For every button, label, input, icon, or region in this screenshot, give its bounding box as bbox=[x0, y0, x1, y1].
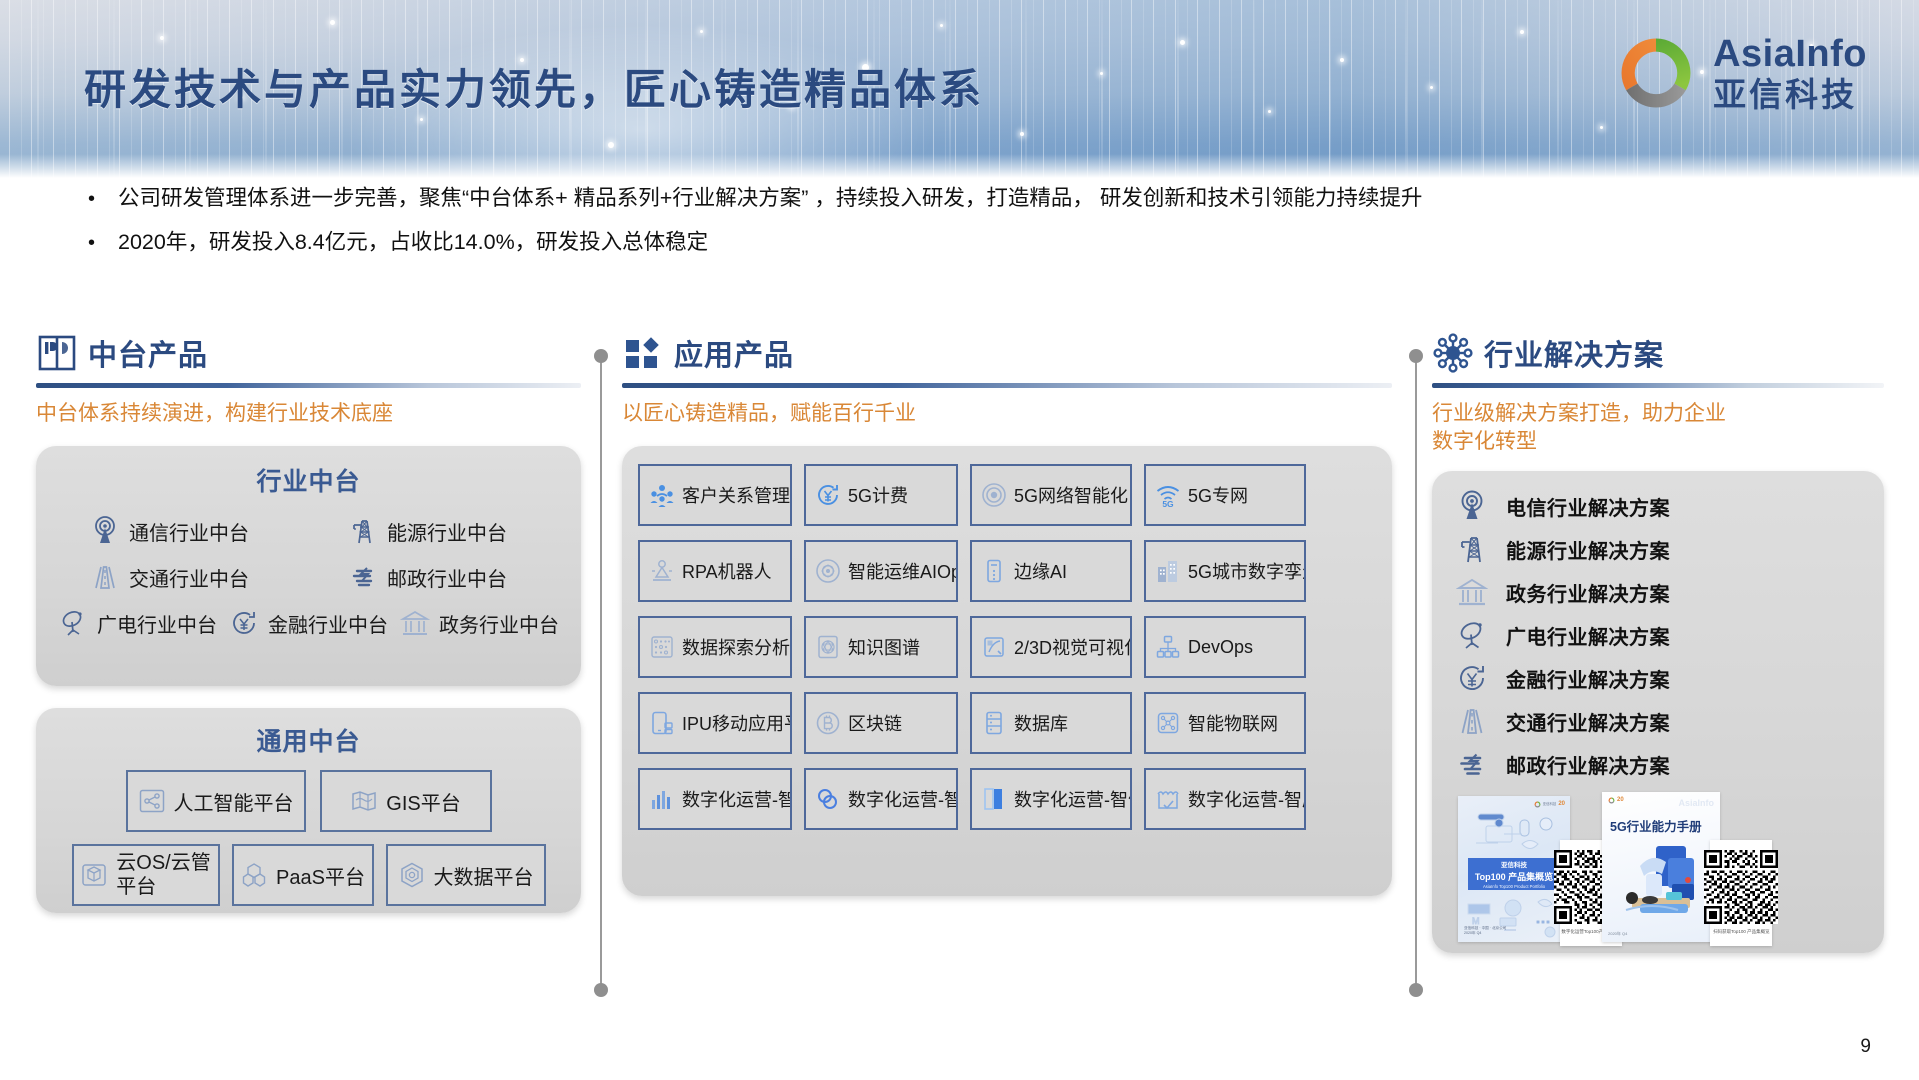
book-icon bbox=[981, 786, 1007, 812]
industry-item-label: 政务行业中台 bbox=[439, 609, 559, 638]
billing-yuan-icon bbox=[815, 482, 841, 508]
bullet-list: • 公司研发管理体系进一步完善，聚焦“中台体系+ 精品系列+行业解决方案” ，持… bbox=[88, 176, 1878, 264]
column-title: 应用产品 bbox=[674, 332, 794, 374]
column-header-applications: 应用产品 bbox=[622, 330, 1392, 376]
app-item-5g-billing[interactable]: 5G计费 bbox=[804, 464, 958, 526]
brochure-title: Top100 产品集概览 bbox=[1475, 870, 1553, 883]
edge-device-icon bbox=[981, 558, 1007, 584]
brochure-cover-art bbox=[1610, 840, 1714, 922]
solution-item-label: 邮政行业解决方案 bbox=[1506, 750, 1670, 779]
app-item-5g-digital-twin[interactable]: 5G城市数字孪生 bbox=[1144, 540, 1306, 602]
column-solutions: 行业解决方案 行业级解决方案打造，助力企业 数字化转型 电信行业解决方案 bbox=[1432, 330, 1884, 953]
yuan-circle-icon bbox=[229, 608, 259, 638]
aiops-gear-icon bbox=[815, 558, 841, 584]
platform-cloudos[interactable]: 云OS/云管 平台 bbox=[72, 844, 220, 906]
platform-label: 人工智能平台 bbox=[174, 787, 294, 816]
app-item-label: 5G城市数字孪生 bbox=[1188, 558, 1304, 584]
industry-item-broadcast[interactable]: 广电行业中台 bbox=[58, 608, 217, 638]
column-rule bbox=[622, 383, 1392, 388]
app-item-label: 智能物联网 bbox=[1188, 710, 1278, 736]
bullet-item: • 公司研发管理体系进一步完善，聚焦“中台体系+ 精品系列+行业解决方案” ，持… bbox=[88, 176, 1878, 220]
solution-item-label: 政务行业解决方案 bbox=[1506, 578, 1670, 607]
svg-text:5G: 5G bbox=[1162, 499, 1174, 508]
industry-item-telecom[interactable]: 通信行业中台 bbox=[90, 516, 290, 546]
mobile-phone-icon bbox=[649, 710, 675, 736]
3d-visual-icon bbox=[981, 634, 1007, 660]
anniversary-badge: 20 bbox=[1617, 797, 1624, 803]
column-subtitle: 行业级解决方案打造，助力企业 数字化转型 bbox=[1432, 400, 1884, 457]
industry-middleware-grid: 通信行业中台 能源行业中台 bbox=[50, 516, 567, 638]
app-item-label: 数字化运营-智营 bbox=[682, 786, 790, 812]
industry-item-label: 广电行业中台 bbox=[97, 609, 217, 638]
column-title: 中台产品 bbox=[88, 332, 208, 374]
logo-name-cn: 亚信科技 bbox=[1713, 78, 1867, 111]
app-item-blockchain[interactable]: 区块链 bbox=[804, 692, 958, 754]
column-title: 行业解决方案 bbox=[1484, 332, 1664, 374]
bullet-item: • 2020年，研发投入8.4亿元，占收比14.0%，研发投入总体稳定 bbox=[88, 220, 1878, 264]
page-title: 研发技术与产品实力领先，匠心铸造精品体系 bbox=[84, 56, 984, 117]
road-icon bbox=[90, 562, 120, 592]
industry-item-government[interactable]: 政务行业中台 bbox=[400, 608, 559, 638]
wifi-5g-icon: 5G bbox=[1155, 482, 1181, 508]
column-rule bbox=[36, 383, 581, 388]
app-item-iot[interactable]: 智能物联网 bbox=[1144, 692, 1306, 754]
card-industry-solutions: 电信行业解决方案 能源行业解决方案 bbox=[1432, 471, 1884, 953]
app-item-digital-ops-zhixiang[interactable]: 数字化运营-智享 bbox=[804, 768, 958, 830]
app-item-label: 5G专网 bbox=[1188, 482, 1248, 508]
asiainfo-logo: AsiaInfo 亚信科技 bbox=[1615, 32, 1867, 114]
qr-caption: 扫码获取Top100 产品集概览 bbox=[1713, 929, 1770, 935]
solution-item-label: 金融行业解决方案 bbox=[1506, 664, 1670, 693]
app-item-3d-visualization[interactable]: 2/3D视觉可视化 bbox=[970, 616, 1132, 678]
solution-item-label: 能源行业解决方案 bbox=[1506, 535, 1670, 564]
app-squares-icon bbox=[622, 332, 664, 374]
app-item-digital-ops-zhixin[interactable]: 数字化运营-智信 bbox=[970, 768, 1132, 830]
card-application-products: 客户关系管理 5G计费 bbox=[622, 446, 1392, 896]
solution-item-finance[interactable]: 金融行业解决方案 bbox=[1456, 657, 1874, 700]
column-rule bbox=[1432, 383, 1884, 388]
iot-chip-icon bbox=[1155, 710, 1181, 736]
rpa-robot-icon bbox=[649, 558, 675, 584]
solution-item-transport[interactable]: 交通行业解决方案 bbox=[1456, 700, 1874, 743]
app-item-devops[interactable]: DevOps bbox=[1144, 616, 1306, 678]
yuan-circle-icon bbox=[1456, 662, 1488, 694]
platform-ai[interactable]: 人工智能平台 bbox=[126, 770, 306, 832]
app-item-data-exploration[interactable]: 数据探索分析 bbox=[638, 616, 792, 678]
brochure-subtitle: AsiaInfo Top100 Product Portfolio bbox=[1483, 884, 1545, 889]
app-item-label: 5G计费 bbox=[848, 482, 908, 508]
ai-nodes-icon bbox=[138, 787, 166, 815]
solution-item-label: 交通行业解决方案 bbox=[1506, 707, 1670, 736]
card-general-middleware: 通用中台 人工智能平台 bbox=[36, 708, 581, 913]
asiainfo-ring-logo-icon bbox=[1615, 32, 1697, 114]
platform-label: GIS平台 bbox=[386, 787, 460, 816]
column-middleware: 中台产品 中台体系持续演进，构建行业技术底座 行业中台 通信行业中台 bbox=[36, 330, 581, 913]
brochure-footer: 亚信科技 · 中国 · 北京公司 2020年 Q4 bbox=[1464, 926, 1506, 937]
column-divider-2 bbox=[1415, 358, 1417, 988]
solution-item-label: 电信行业解决方案 bbox=[1506, 492, 1670, 521]
app-item-label: RPA机器人 bbox=[682, 558, 772, 584]
city-buildings-icon bbox=[1155, 558, 1181, 584]
brochure-title: 5G行业能力手册 bbox=[1610, 816, 1702, 835]
app-item-label: 数据库 bbox=[1014, 710, 1068, 736]
app-item-5g-network-ai[interactable]: 5G网络智能化 bbox=[970, 464, 1132, 526]
qr-code-image bbox=[1704, 850, 1778, 924]
power-tower-icon bbox=[348, 516, 378, 546]
app-item-edge-ai[interactable]: 边缘AI bbox=[970, 540, 1132, 602]
power-tower-icon bbox=[1456, 533, 1488, 565]
app-item-label: 区块链 bbox=[848, 710, 902, 736]
postal-icon bbox=[1456, 748, 1488, 780]
logo-name-en: AsiaInfo bbox=[1713, 35, 1867, 73]
brochure-brand-name: 亚信科技 bbox=[1501, 859, 1527, 869]
column-applications: 应用产品 以匠心铸造精品，赋能百行千业 客户关系管理 bbox=[622, 330, 1392, 896]
app-item-ipu-mobile[interactable]: IPU移动应用平台 bbox=[638, 692, 792, 754]
satellite-dish-icon bbox=[1456, 619, 1488, 651]
general-middleware-row-1: 人工智能平台 GIS平台 bbox=[48, 770, 569, 832]
app-item-aiops[interactable]: 智能运维AIOps bbox=[804, 540, 958, 602]
app-item-label: 2/3D视觉可视化 bbox=[1014, 634, 1130, 660]
industry-row: 交通行业中台 邮政行业中台 bbox=[50, 562, 567, 592]
map-icon bbox=[350, 787, 378, 815]
antenna-icon bbox=[90, 516, 120, 546]
bullet-text: 公司研发管理体系进一步完善，聚焦“中台体系+ 精品系列+行业解决方案” ，持续投… bbox=[118, 176, 1422, 220]
government-bank-icon bbox=[1456, 576, 1488, 608]
network-target-icon bbox=[981, 482, 1007, 508]
government-bank-icon bbox=[400, 608, 430, 638]
app-item-database[interactable]: 数据库 bbox=[970, 692, 1132, 754]
qr-code-5g-handbook[interactable]: 扫码获取Top100 产品集概览 bbox=[1710, 840, 1772, 946]
data-explore-icon bbox=[649, 634, 675, 660]
solution-item-energy[interactable]: 能源行业解决方案 bbox=[1456, 528, 1874, 571]
industry-item-energy[interactable]: 能源行业中台 bbox=[348, 516, 507, 546]
column-header-solutions: 行业解决方案 bbox=[1432, 330, 1884, 376]
satellite-dish-icon bbox=[58, 608, 88, 638]
solution-item-government[interactable]: 政务行业解决方案 bbox=[1456, 571, 1874, 614]
brochure-brand-mark: 20 bbox=[1608, 797, 1624, 804]
platform-gis[interactable]: GIS平台 bbox=[320, 770, 492, 832]
industry-item-label: 能源行业中台 bbox=[387, 517, 507, 546]
app-item-label: 数字化运营-智店 bbox=[1188, 786, 1304, 812]
asiainfo-ring-logo-icon bbox=[1608, 797, 1615, 804]
bullet-text: 2020年，研发投入8.4亿元，占收比14.0%，研发投入总体稳定 bbox=[118, 220, 708, 264]
database-icon bbox=[981, 710, 1007, 736]
knowledge-graph-icon bbox=[815, 634, 841, 660]
devops-tree-icon bbox=[1155, 634, 1181, 660]
solution-item-telecom[interactable]: 电信行业解决方案 bbox=[1456, 485, 1874, 528]
app-item-crm[interactable]: 客户关系管理 bbox=[638, 464, 792, 526]
app-item-label: 数据探索分析 bbox=[682, 634, 790, 660]
platform-label: 云OS/云管 平台 bbox=[116, 851, 210, 900]
app-item-rpa[interactable]: RPA机器人 bbox=[638, 540, 792, 602]
platform-label: 大数据平台 bbox=[434, 861, 534, 890]
platform-label: PaaS平台 bbox=[276, 861, 365, 890]
app-item-5g-private-network[interactable]: 5G 5G专网 bbox=[1144, 464, 1306, 526]
app-item-label: 5G网络智能化 bbox=[1014, 482, 1128, 508]
solution-item-broadcast[interactable]: 广电行业解决方案 bbox=[1456, 614, 1874, 657]
app-item-label: 边缘AI bbox=[1014, 558, 1067, 584]
road-icon bbox=[1456, 705, 1488, 737]
paas-cubes-icon bbox=[240, 861, 268, 889]
page-number: 9 bbox=[1860, 1036, 1871, 1058]
industry-item-transport[interactable]: 交通行业中台 bbox=[90, 562, 290, 592]
app-item-label: 智能运维AIOps bbox=[848, 558, 956, 584]
antenna-icon bbox=[1456, 490, 1488, 522]
header-banner: 研发技术与产品实力领先，匠心铸造精品体系 bbox=[0, 0, 1919, 180]
app-item-digital-ops-zhidian[interactable]: 数字化运营-智店 bbox=[1144, 768, 1306, 830]
application-product-grid: 客户关系管理 5G计费 bbox=[638, 464, 1376, 830]
shop-icon bbox=[1155, 786, 1181, 812]
industry-item-label: 交通行业中台 bbox=[129, 563, 249, 592]
card-industry-middleware: 行业中台 通信行业中台 bbox=[36, 446, 581, 686]
column-header-middleware: 中台产品 bbox=[36, 330, 581, 376]
platform-paas[interactable]: PaaS平台 bbox=[232, 844, 374, 906]
brochure-title-band: 亚信科技 Top100 产品集概览 AsiaInfo Top100 Produc… bbox=[1468, 858, 1560, 890]
card-title: 通用中台 bbox=[48, 722, 569, 758]
column-subtitle: 以匠心铸造精品，赋能百行千业 bbox=[622, 400, 1392, 428]
general-middleware-row-2: 云OS/云管 平台 PaaS平台 bbox=[48, 844, 569, 906]
solution-hub-icon bbox=[1432, 332, 1474, 374]
industry-item-label: 通信行业中台 bbox=[129, 517, 249, 546]
app-item-knowledge-graph[interactable]: 知识图谱 bbox=[804, 616, 958, 678]
app-item-label: DevOps bbox=[1188, 637, 1253, 658]
app-item-label: 客户关系管理 bbox=[682, 482, 790, 508]
platform-bigdata[interactable]: 大数据平台 bbox=[386, 844, 546, 906]
solution-item-label: 广电行业解决方案 bbox=[1506, 621, 1670, 650]
column-divider-1 bbox=[600, 358, 602, 988]
column-subtitle: 中台体系持续演进，构建行业技术底座 bbox=[36, 400, 581, 428]
solution-item-postal[interactable]: 邮政行业解决方案 bbox=[1456, 743, 1874, 786]
app-item-label: 数字化运营-智信 bbox=[1014, 786, 1130, 812]
industry-item-postal[interactable]: 邮政行业中台 bbox=[348, 562, 507, 592]
brochure-ghost-text: AsiaInfo bbox=[1678, 798, 1714, 808]
industry-item-label: 邮政行业中台 bbox=[387, 563, 507, 592]
bullet-marker: • bbox=[88, 177, 118, 221]
cloud-os-icon bbox=[80, 861, 108, 889]
bigdata-hex-icon bbox=[398, 861, 426, 889]
solution-list: 电信行业解决方案 能源行业解决方案 bbox=[1442, 485, 1874, 786]
brochure-footer: 2020年 Q4 bbox=[1608, 931, 1627, 937]
app-item-label: 知识图谱 bbox=[848, 634, 920, 660]
industry-row: 广电行业中台 金融行业中台 bbox=[50, 608, 567, 638]
brochure-gallery: 亚信科技 20 M bbox=[1442, 792, 1874, 942]
app-item-label: IPU移动应用平台 bbox=[682, 710, 790, 736]
app-item-digital-ops-zhiying[interactable]: 数字化运营-智营 bbox=[638, 768, 792, 830]
middleware-panel-icon bbox=[36, 332, 78, 374]
postal-icon bbox=[348, 562, 378, 592]
crm-people-icon bbox=[649, 482, 675, 508]
bitcoin-icon bbox=[815, 710, 841, 736]
bullet-marker: • bbox=[88, 221, 118, 265]
svg-text:M: M bbox=[1472, 916, 1480, 926]
industry-row: 通信行业中台 能源行业中台 bbox=[50, 516, 567, 546]
card-title: 行业中台 bbox=[50, 462, 567, 498]
industry-item-label: 金融行业中台 bbox=[268, 609, 388, 638]
app-item-label: 数字化运营-智享 bbox=[848, 786, 956, 812]
industry-item-finance[interactable]: 金融行业中台 bbox=[229, 608, 388, 638]
links-icon bbox=[815, 786, 841, 812]
brochure-5g-handbook[interactable]: 20 AsiaInfo 5G行业能力手册 bbox=[1602, 792, 1720, 942]
bar-chart-icon bbox=[649, 786, 675, 812]
